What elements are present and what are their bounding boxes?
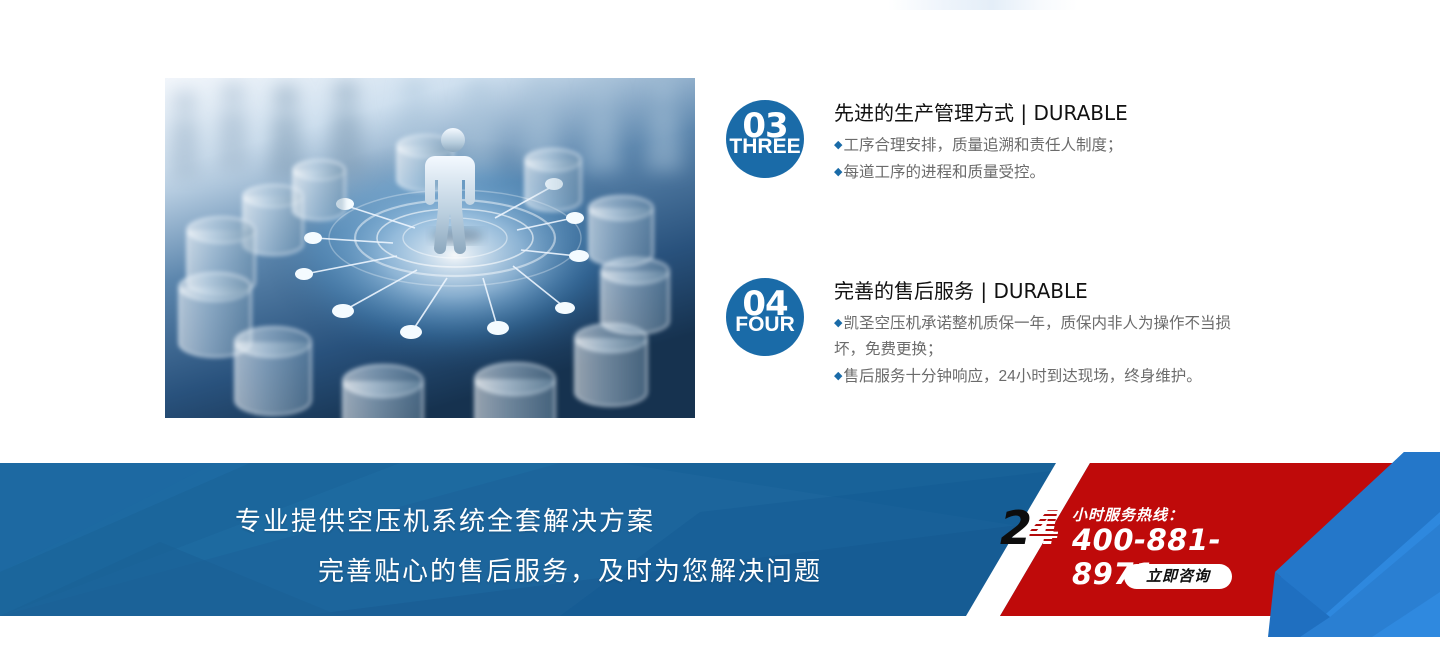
feature-block-04: 04 FOUR 完善的售后服务 | DURABLE ◆凯圣空压机承诺整机质保一年… xyxy=(726,278,1246,390)
feature-title: 完善的售后服务 | DURABLE xyxy=(834,278,1246,304)
feature-bullet-text: 售后服务十分钟响应，24小时到达现场，终身维护。 xyxy=(843,368,1201,385)
diamond-bullet-icon: ◆ xyxy=(834,370,842,382)
badge-word: FOUR xyxy=(726,314,804,335)
badge-03: 03 THREE xyxy=(726,100,804,178)
feature-block-03: 03 THREE 先进的生产管理方式 | DURABLE ◆工序合理安排，质量追… xyxy=(726,100,1128,186)
banner-slogan-line1: 专业提供空压机系统全套解决方案 xyxy=(235,507,655,537)
banner-slogan-line2: 完善贴心的售后服务，及时为您解决问题 xyxy=(318,557,822,587)
feature-bullet-text: 每道工序的进程和质量受控。 xyxy=(843,164,1045,181)
feature-text-04: 完善的售后服务 | DURABLE ◆凯圣空压机承诺整机质保一年，质保内非人为操… xyxy=(834,278,1246,390)
feature-bullet-text: 凯圣空压机承诺整机质保一年，质保内非人为操作不当损坏，免费更换； xyxy=(834,315,1231,358)
feature-bullet: ◆每道工序的进程和质量受控。 xyxy=(834,159,1128,186)
badge-word: THREE xyxy=(726,136,804,157)
badge-04: 04 FOUR xyxy=(726,278,804,356)
content-area: 03 THREE 先进的生产管理方式 | DURABLE ◆工序合理安排，质量追… xyxy=(0,0,1440,455)
bottom-cta-banner: 专业提供空压机系统全套解决方案 完善贴心的售后服务，及时为您解决问题 24 小时… xyxy=(0,452,1440,663)
feature-bullet: ◆工序合理安排，质量追溯和责任人制度； xyxy=(834,132,1128,159)
diamond-bullet-icon: ◆ xyxy=(834,317,842,329)
feature-title: 先进的生产管理方式 | DURABLE xyxy=(834,100,1128,126)
feature-bullet: ◆凯圣空压机承诺整机质保一年，质保内非人为操作不当损坏，免费更换； xyxy=(834,310,1246,363)
feature-bullet: ◆售后服务十分钟响应，24小时到达现场，终身维护。 xyxy=(834,363,1246,390)
hotline-digit-2: 2 xyxy=(1000,501,1029,555)
diamond-bullet-icon: ◆ xyxy=(834,166,842,178)
hotline-digit-4: 4 xyxy=(1029,501,1058,555)
feature-bullet-text: 工序合理安排，质量追溯和责任人制度； xyxy=(843,137,1122,154)
diamond-bullet-icon: ◆ xyxy=(834,139,842,151)
hotline-label: 小时服务热线： xyxy=(1072,504,1184,525)
consult-now-button[interactable]: 立即咨询 xyxy=(1124,564,1232,589)
feature-text-03: 先进的生产管理方式 | DURABLE ◆工序合理安排，质量追溯和责任人制度； … xyxy=(834,100,1128,186)
network-illustration-image xyxy=(165,78,695,418)
hotline-24-graphic: 24 xyxy=(1000,505,1058,551)
